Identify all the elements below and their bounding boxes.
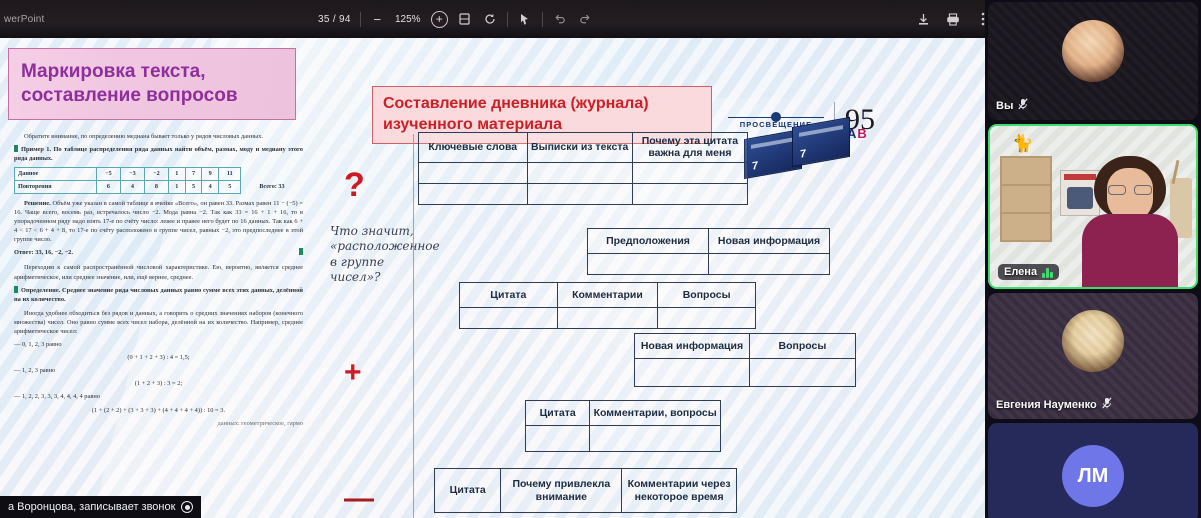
cell-empty[interactable] — [419, 183, 528, 204]
book-number-1: 7 — [752, 160, 758, 173]
presentation-slide[interactable]: Маркировка текста, составление вопросов … — [0, 38, 985, 518]
cell-d6: 11 — [219, 168, 241, 181]
quote-comments-questions2-table: Цитата Комментарии, вопросы — [525, 400, 721, 452]
book-number-2: 7 — [800, 148, 806, 161]
row-label-data: Данное — [15, 168, 97, 181]
th-text-excerpts: Выписки из текста — [527, 133, 632, 163]
participant-name-row: Елена — [998, 264, 1059, 280]
participant-tile-evgenia[interactable]: Евгения Науменко — [988, 293, 1198, 419]
textbook-example: Пример 1. По таблице распределения ряда … — [14, 145, 303, 163]
row-label-reps: Повторения — [15, 181, 97, 194]
record-icon[interactable] — [181, 501, 193, 513]
th-questions-2: Вопросы — [749, 334, 855, 359]
th-assumptions: Предположения — [588, 229, 709, 254]
cell-d3: 1 — [168, 168, 185, 181]
download-icon[interactable] — [915, 11, 931, 27]
toolbar-divider-3 — [542, 12, 543, 27]
th-comments: Комментарии — [557, 283, 658, 308]
zoom-level-label: 125% — [394, 14, 422, 25]
glasses-icon — [1108, 185, 1152, 195]
definition-marker-icon — [14, 286, 18, 293]
cell-d4: 7 — [185, 168, 202, 181]
bookshelf — [1000, 156, 1052, 242]
textbook-ex1-calc: (0 + 1 + 2 + 3) : 4 = 1,5; — [14, 353, 303, 362]
slide-title-left: Маркировка текста, составление вопросов — [8, 48, 296, 120]
textbook-ex2-calc: (1 + 2 + 3) : 3 = 2; — [14, 379, 303, 388]
textbook-note: Обратите внимание, по определению медиан… — [14, 132, 303, 141]
logo-rule — [728, 117, 824, 118]
minus-annotation: — — [344, 493, 374, 505]
participant-tile-elena[interactable]: 🐈 Елена — [988, 124, 1198, 289]
table-row: Новая информация Вопросы — [635, 334, 856, 359]
book-stripe — [751, 137, 795, 149]
th-comments-questions: Комментарии, вопросы — [590, 401, 721, 426]
definition-label: Определение. — [21, 287, 60, 294]
avatar — [1062, 310, 1124, 372]
table-row: Цитата Комментарии Вопросы — [460, 283, 756, 308]
cell-empty[interactable] — [590, 426, 721, 452]
slide-title-left-line1: Маркировка текста, — [21, 60, 295, 84]
cell-d1: −3 — [120, 168, 144, 181]
quote-attention-table: Цитата Почему привлекла внимание Коммент… — [434, 468, 737, 513]
th-quote-3: Цитата — [435, 469, 501, 513]
participant-name-row: Евгения Науменко — [996, 397, 1112, 412]
table-row — [419, 162, 748, 183]
cell-r3: 1 — [168, 181, 185, 194]
slide-title-right-line1: Составление дневника (журнала) — [383, 94, 711, 115]
print-icon[interactable] — [945, 11, 961, 27]
slide-title-left-line2: составление вопросов — [21, 84, 295, 108]
textbook-solution: Решение. Объём уже указан в самой таблиц… — [14, 199, 303, 244]
assumptions-table: Предположения Новая информация — [587, 228, 830, 275]
cell-r1: 4 — [120, 181, 144, 194]
cell-empty[interactable] — [526, 426, 590, 452]
participant-name: Елена — [1004, 266, 1037, 278]
toolbar-center-controls: 35 / 94 − 125% + — [318, 0, 593, 38]
textbook-answer: Ответ: 33, 16, −2, −2. — [14, 248, 303, 257]
cat-drawing-icon: 🐈 — [1012, 134, 1038, 156]
participant-tile-lm[interactable]: ЛМ — [988, 423, 1198, 518]
th-quote: Цитата — [460, 283, 558, 308]
table-row — [419, 183, 748, 204]
redo-icon[interactable] — [577, 11, 593, 27]
th-comments-later: Комментарии через некоторое время — [622, 469, 737, 513]
torso — [1082, 214, 1178, 289]
table-row: Данное −5 −3 −2 1 7 9 11 — [15, 168, 303, 181]
example-marker-icon — [14, 145, 18, 152]
table-row — [526, 426, 721, 452]
recording-text: а Воронцова, записывает звонок — [8, 501, 175, 513]
toolbar-right-controls — [915, 0, 991, 38]
textbook-sometimes: Иногда удобнее обходиться без рядов и да… — [14, 309, 303, 336]
cell-r4: 5 — [185, 181, 202, 194]
cell-empty[interactable] — [588, 254, 709, 275]
example-label: Пример 1. — [21, 146, 51, 153]
rotate-icon[interactable] — [482, 11, 498, 27]
page-separator: / — [333, 14, 336, 25]
participant-tile-you[interactable]: Вы — [988, 2, 1198, 120]
table-row: Цитата Почему привлекла внимание Коммент… — [435, 469, 737, 513]
cell-empty[interactable] — [635, 359, 750, 387]
annotation-column: ? Что значит, «расположенное в группе чи… — [330, 168, 416, 285]
cell-d5: 9 — [202, 168, 219, 181]
distribution-table: Данное −5 −3 −2 1 7 9 11 Повторения 6 4 … — [14, 167, 303, 194]
question-mark-annotation: ? — [344, 168, 416, 202]
solution-label: Решение. — [24, 200, 51, 207]
th-new-information: Новая информация — [635, 334, 750, 359]
table-row: Цитата Комментарии, вопросы — [526, 401, 721, 426]
cell-r5: 4 — [202, 181, 219, 194]
avatar-initials: ЛМ — [1062, 445, 1124, 507]
key-words-table: Ключевые слова Выписки из текста Почему … — [418, 132, 748, 205]
cell-r2: 8 — [144, 181, 168, 194]
cell-r6: 5 — [219, 181, 241, 194]
slide-column-divider — [413, 134, 414, 518]
table-row — [588, 254, 830, 275]
th-key-words: Ключевые слова — [419, 133, 528, 163]
answer-text: 33, 16, −2, −2. — [35, 249, 73, 256]
answer-marker-icon — [299, 248, 303, 255]
participants-rail: Вы 🐈 Е — [985, 0, 1201, 518]
new-info-questions-table: Новая информация Вопросы — [634, 333, 856, 387]
page-current: 35 — [318, 14, 330, 25]
cell-empty[interactable] — [749, 359, 855, 387]
cell-empty[interactable] — [460, 308, 558, 329]
table-row — [635, 359, 856, 387]
participant-name-row: Вы — [996, 98, 1028, 113]
textbook-ex3-calc: (1 + (2 + 2) + (3 + 3 + 3) + (4 + 4 + 4 … — [14, 406, 303, 415]
textbook-transition: Переходим к самой распространённой число… — [14, 263, 303, 281]
solution-text: Объём уже указан в самой таблице в ячейк… — [14, 200, 303, 243]
viewer-toolbar: werPoint 35 / 94 − 125% + — [0, 0, 985, 38]
page-indicator: 35 / 94 — [318, 14, 351, 25]
answer-label: Ответ: — [14, 249, 34, 256]
audio-level-icon — [1042, 267, 1053, 278]
cell-total: Всего: 33 — [241, 181, 303, 194]
person-figure — [1078, 156, 1182, 289]
cell-empty[interactable] — [709, 254, 830, 275]
quote-comments-questions-table: Цитата Комментарии Вопросы — [459, 282, 756, 329]
textbook-ex2: — 1, 2, 3 равно — [14, 366, 303, 375]
textbook-covers-image: 7 7 — [744, 120, 864, 172]
cell-empty[interactable] — [527, 183, 632, 204]
example-text: По таблице распределения ряда данных най… — [14, 146, 303, 162]
cell-empty[interactable] — [632, 183, 747, 204]
textbook-page: Обратите внимание, по определению медиан… — [6, 126, 311, 518]
textbook-definition: Определение. Среднее значение ряда число… — [14, 286, 303, 304]
webcam-video: 🐈 — [990, 126, 1196, 287]
avatar — [1062, 20, 1124, 82]
book-stripe-2 — [799, 125, 843, 137]
participant-name: Вы — [996, 100, 1013, 112]
toolbar-divider-2 — [507, 12, 508, 27]
fit-page-icon[interactable] — [457, 11, 473, 27]
plus-annotation: + — [344, 358, 362, 388]
mic-muted-icon — [1018, 98, 1028, 113]
undo-icon[interactable] — [552, 11, 568, 27]
participant-name: Евгения Науменко — [996, 399, 1097, 411]
name-pill: Елена — [998, 264, 1059, 280]
textbook-ex3: — 1, 2, 2, 3, 3, 3, 4, 4, 4, 4 равно — [14, 392, 303, 401]
table-row: Повторения 6 4 8 1 5 4 5 Всего: 33 — [15, 181, 303, 194]
mic-muted-icon — [1102, 397, 1112, 412]
handwritten-note: Что значит, «расположенное в группе чисе… — [330, 224, 416, 285]
book-cover-2: 7 — [792, 117, 850, 167]
recording-status-bar: а Воронцова, записывает звонок — [0, 496, 201, 518]
cell-empty[interactable] — [632, 162, 747, 183]
cell-empty[interactable] — [527, 162, 632, 183]
th-why-important: Почему эта цитата важна для меня — [632, 133, 747, 163]
cell-r0: 6 — [96, 181, 120, 194]
cell-empty[interactable] — [658, 308, 756, 329]
toolbar-divider — [360, 12, 361, 27]
textbook-ex1: — 0, 1, 2, 3 равно — [14, 340, 303, 349]
th-questions: Вопросы — [658, 283, 756, 308]
pointer-icon[interactable] — [517, 11, 533, 27]
th-why-attention: Почему привлекла внимание — [501, 469, 622, 513]
cell-d0: −5 — [96, 168, 120, 181]
zoom-out-button[interactable]: − — [370, 12, 385, 27]
page-total: 94 — [339, 14, 351, 25]
th-quote-2: Цитата — [526, 401, 590, 426]
th-new-info: Новая информация — [709, 229, 830, 254]
textbook-footer: данных: геометрическое, гармо — [14, 419, 303, 428]
app-title: werPoint — [4, 14, 45, 25]
table-row — [460, 308, 756, 329]
table-row: Ключевые слова Выписки из текста Почему … — [419, 133, 748, 163]
table-row: Предположения Новая информация — [588, 229, 830, 254]
cell-empty[interactable] — [557, 308, 658, 329]
zoom-in-button[interactable]: + — [431, 11, 448, 28]
cell-empty — [241, 168, 303, 181]
cell-empty[interactable] — [419, 162, 528, 183]
cell-d2: −2 — [144, 168, 168, 181]
